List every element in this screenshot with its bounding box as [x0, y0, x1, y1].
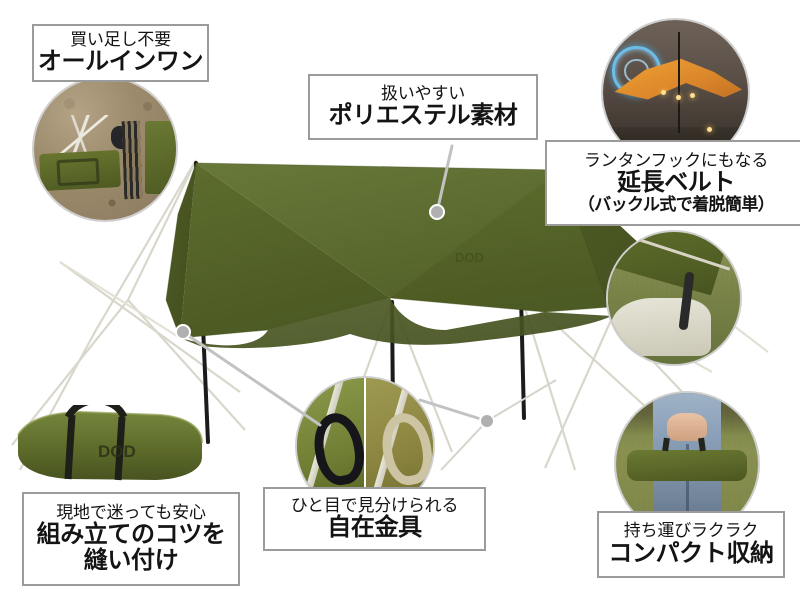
tarp-dod-logo: DOD — [455, 250, 484, 265]
storage-bag — [39, 150, 120, 191]
packed-carry-bag — [627, 450, 746, 481]
photo-extension-belt — [608, 232, 740, 364]
infographic-canvas: DOD DOD — [0, 0, 800, 600]
callout-label-extension-belt: ランタンフックにもなる 延長ベルト （バックル式で着脱簡単） — [545, 140, 800, 226]
callout-label-polyester: 扱いやすい ポリエステル素材 — [308, 74, 538, 140]
callout-label-cord-adjusters: ひと目で見分けられる 自在金具 — [263, 487, 486, 551]
callout-sub-sewn-instructions: 現地で迷っても安心 — [56, 504, 206, 522]
callout-dot-adjuster-right — [479, 413, 495, 429]
main-adjuster-icon — [309, 410, 365, 490]
callout-main-cord-adjusters: 自在金具 — [327, 515, 421, 541]
lantern-light — [676, 95, 681, 100]
callout-label-sewn-instructions: 現地で迷っても安心 組み立てのコツを 縫い付け — [22, 492, 240, 586]
night-pole — [678, 32, 680, 134]
callout-dot-adjuster-left — [175, 324, 191, 340]
tent-body — [611, 298, 711, 356]
callout-dot-polyester — [429, 204, 445, 220]
callout-sub-extension-belt: ランタンフックにもなる — [584, 152, 768, 170]
photo-all-in-one-gear — [34, 78, 176, 220]
sub-adjuster-icon — [377, 410, 433, 490]
bag-dod-logo: DOD — [98, 442, 136, 461]
callout-main-extension-belt: 延長ベルト — [617, 170, 735, 196]
large-carry-bag: DOD — [10, 405, 210, 487]
folded-tarp — [145, 121, 176, 195]
callout-sub-compact-storage: 持ち運びラクラク — [624, 522, 758, 540]
callout-sub-cord-adjusters: ひと目で見分けられる — [291, 497, 459, 515]
callout-main-compact-storage: コンパクト収納 — [608, 541, 773, 567]
callout-label-all-in-one: 買い足し不要 オールインワン — [32, 24, 209, 82]
pole-bundle — [122, 120, 143, 199]
callout-note-sewn-instructions: 縫い付け — [84, 548, 178, 574]
callout-sub-all-in-one: 買い足し不要 — [70, 31, 171, 49]
callout-label-compact-storage: 持ち運びラクラク コンパクト収納 — [597, 511, 785, 578]
callout-main-polyester: ポリエステル素材 — [329, 103, 518, 129]
callout-sub-polyester: 扱いやすい — [381, 85, 465, 103]
lantern-light — [690, 93, 695, 98]
lantern-light — [661, 90, 666, 95]
callout-main-sewn-instructions: 組み立てのコツを — [37, 522, 226, 548]
callout-note-extension-belt: （バックル式で着脱簡単） — [578, 196, 774, 214]
callout-main-all-in-one: オールインワン — [38, 49, 203, 75]
